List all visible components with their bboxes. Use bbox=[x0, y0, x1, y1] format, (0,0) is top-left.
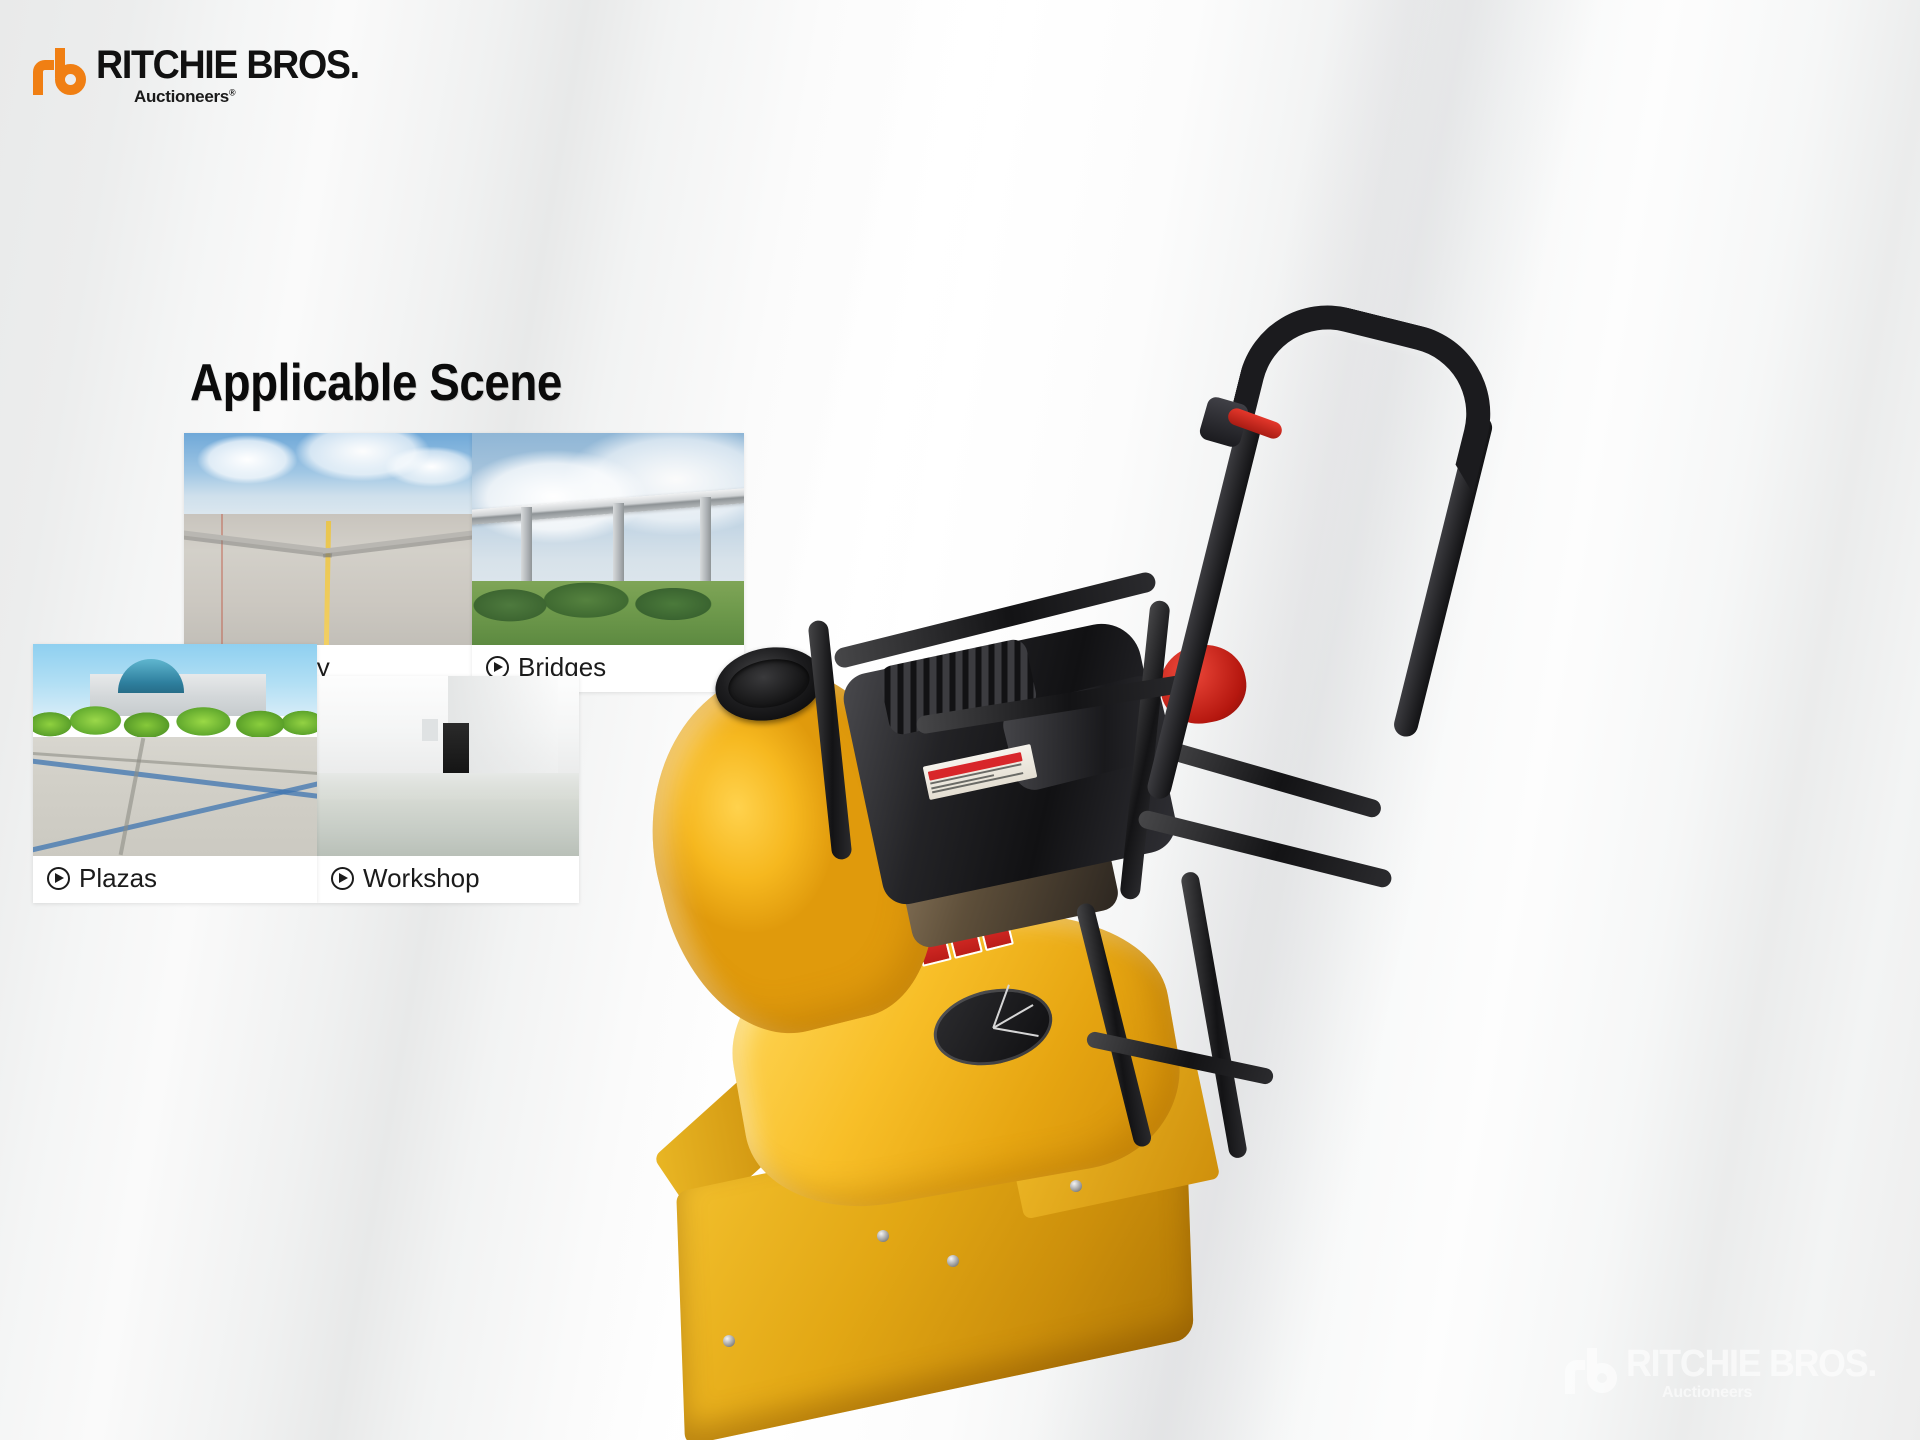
brand-name: RITCHIE BROS. bbox=[96, 44, 359, 86]
dark-partition bbox=[443, 723, 469, 779]
bolt bbox=[1070, 1180, 1082, 1192]
handle-lower-brace bbox=[1157, 739, 1383, 820]
handle-grip-loop[interactable] bbox=[1226, 286, 1510, 493]
bolt bbox=[877, 1230, 889, 1242]
wheel-strut bbox=[1180, 871, 1248, 1160]
brand-logo: RITCHIE BROS. Auctioneers® bbox=[33, 44, 376, 107]
scene-caption-workshop: Workshop bbox=[317, 856, 579, 903]
watermark-logo: RITCHIE BROS. Auctioneers bbox=[1565, 1344, 1892, 1402]
scene-card-plazas[interactable]: Plazas bbox=[33, 644, 317, 903]
page-title: Applicable Scene bbox=[190, 353, 562, 413]
rb-monogram-icon bbox=[33, 48, 87, 95]
bolt bbox=[947, 1255, 959, 1267]
bolt bbox=[723, 1335, 735, 1347]
plaza-pavement bbox=[33, 737, 317, 856]
scene-photo-highway bbox=[184, 433, 472, 645]
scene-card-workshop[interactable]: Workshop bbox=[317, 676, 579, 903]
wall-panel bbox=[422, 719, 438, 741]
watermark-tagline: Auctioneers bbox=[1662, 1384, 1892, 1402]
handle-lower-brace bbox=[1137, 809, 1394, 889]
scene-photo-plazas bbox=[33, 644, 317, 856]
watermark-brand-name: RITCHIE BROS. bbox=[1626, 1344, 1876, 1384]
brand-tagline: Auctioneers® bbox=[134, 87, 376, 107]
epoxy-floor bbox=[317, 773, 579, 856]
pavement-line bbox=[118, 738, 145, 855]
bridge-pier bbox=[521, 507, 532, 592]
transport-wheel-kit bbox=[1095, 900, 1355, 1150]
rb-monogram-icon bbox=[1565, 1348, 1617, 1394]
circled-play-icon bbox=[331, 867, 354, 890]
circled-play-icon bbox=[47, 867, 70, 890]
pavement-line bbox=[33, 769, 317, 856]
scene-label-workshop: Workshop bbox=[363, 863, 480, 894]
registered-mark: ® bbox=[229, 87, 235, 97]
product-plate-compactor bbox=[615, 300, 1905, 1440]
scene-photo-workshop bbox=[317, 676, 579, 856]
scene-caption-plazas: Plazas bbox=[33, 856, 317, 903]
road-surface bbox=[184, 514, 472, 645]
brand-tagline-text: Auctioneers bbox=[134, 87, 229, 106]
scene-label-plazas: Plazas bbox=[79, 863, 157, 894]
